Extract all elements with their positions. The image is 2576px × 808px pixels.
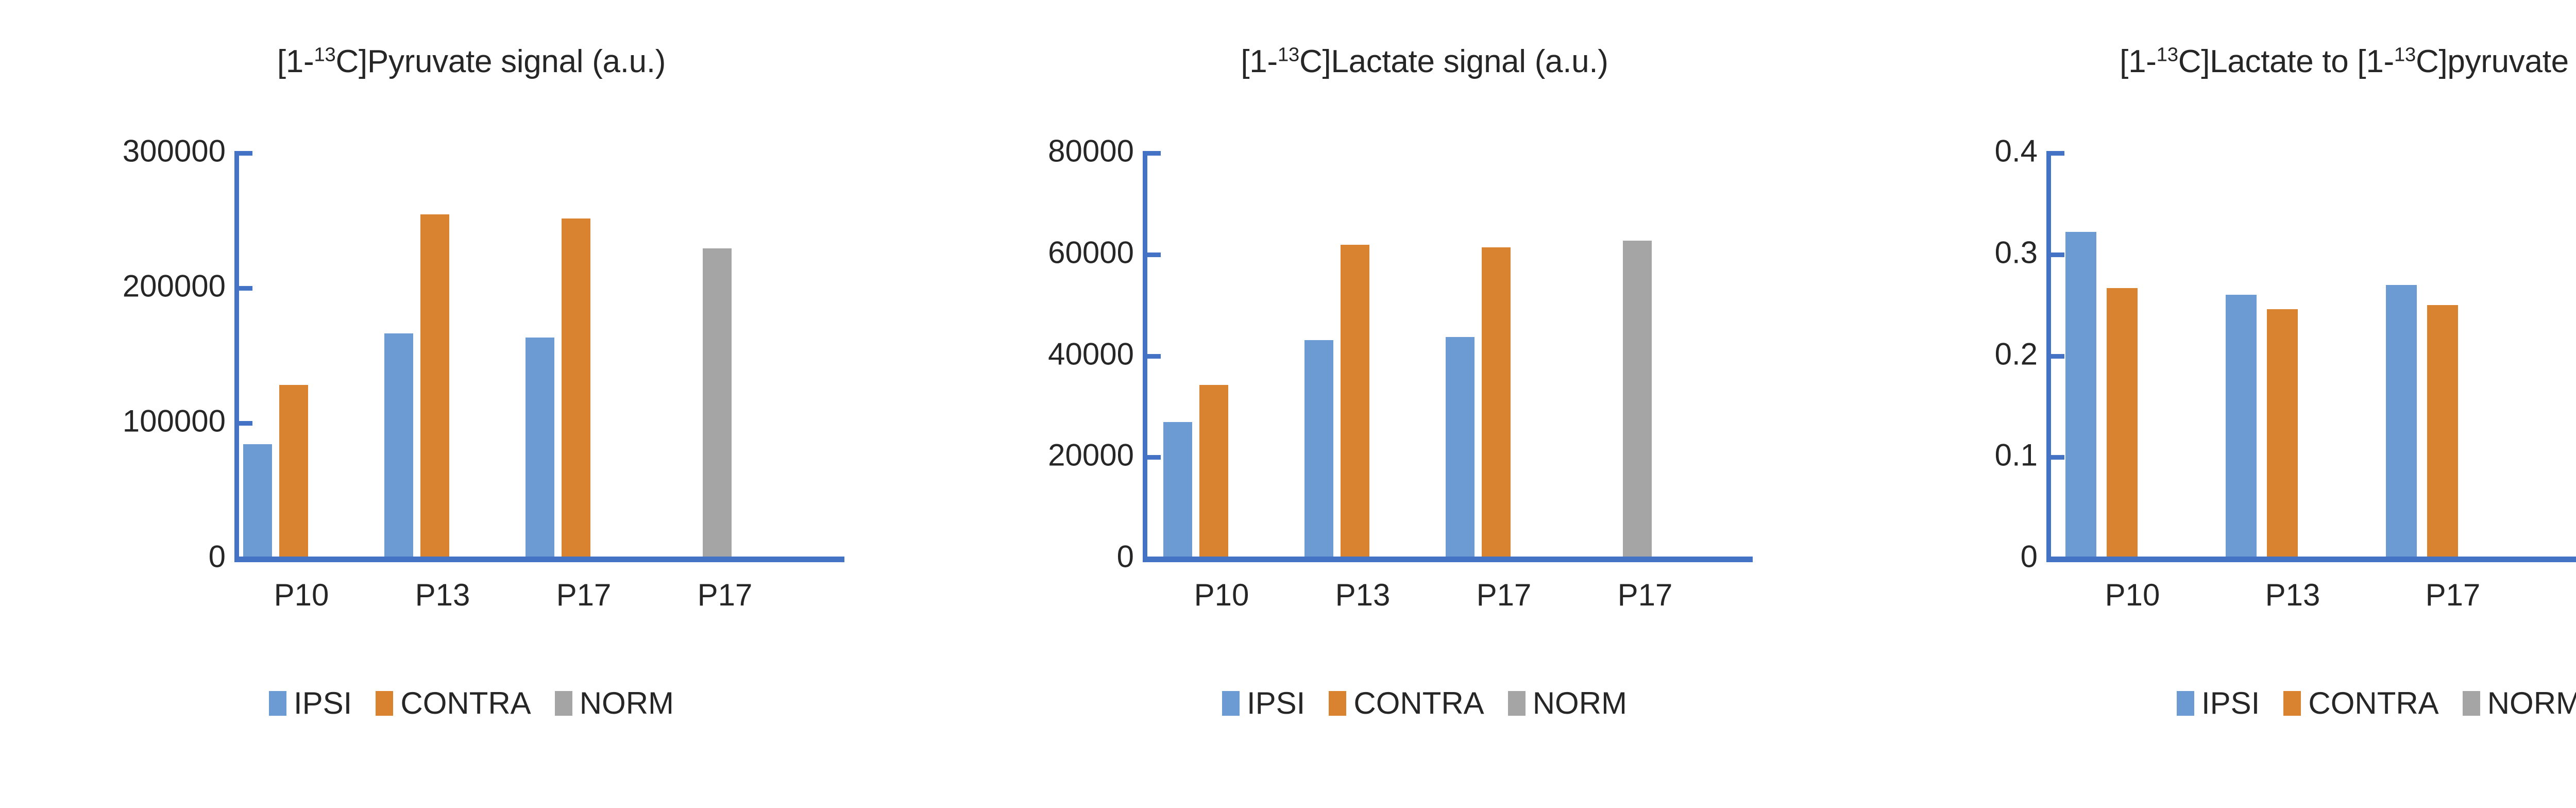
bar-contra-p17 [1482,247,1511,557]
legend-swatch-icon [1329,691,1346,716]
x-axis-line [234,557,844,562]
x-tick-label: P13 [2265,577,2320,613]
y-tick-label: 20000 [1048,437,1134,473]
y-tick: 60000 [1147,252,1161,257]
y-tick-label: 300000 [123,133,226,169]
bar-ipsi-p10 [2065,232,2096,557]
legend-label: CONTRA [2308,685,2438,721]
bar-contra-p10 [279,385,308,557]
bar-ipsi-p10 [243,444,272,557]
legend-item-norm: NORM [2463,685,2576,721]
plot-area: 80000 60000 40000 20000 0 [1143,151,1748,557]
bar-contra-p13 [1341,245,1369,557]
legend: IPSI CONTRA NORM [1906,685,2576,721]
legend-swatch-icon [2177,691,2194,716]
bar-ipsi-p17 [1446,337,1475,557]
legend-label: NORM [1533,685,1627,721]
y-tick: 300000 [239,151,252,156]
y-tick: 0.4 [2051,151,2064,156]
y-tick-label: 0 [209,539,226,575]
bar-ipsi-p13 [2226,295,2257,557]
legend-label: IPSI [294,685,352,721]
x-tick-label: P10 [2105,577,2160,613]
y-tick-label: 60000 [1048,235,1134,271]
legend-label: IPSI [1247,685,1305,721]
legend-item-ipsi: IPSI [1222,685,1305,721]
bar-ipsi-p13 [384,333,413,557]
chart-panel-lactate: [1-13C]Lactate signal (a.u.) 80000 60000… [943,0,1906,808]
legend: IPSI CONTRA NORM [943,685,1906,721]
y-tick-label: 0 [1117,539,1134,575]
y-tick-label: 0.4 [1995,133,2038,169]
y-tick-label: 80000 [1048,133,1134,169]
legend-item-contra: CONTRA [376,685,531,721]
bar-contra-p17 [2427,305,2458,557]
title-text-3: [1-13C]Lactate to [1-13C]pyruvate ratio [2120,44,2576,79]
x-tick-label: P17 [698,577,753,613]
y-tick-label: 100000 [123,403,226,439]
legend-label: NORM [2487,685,2576,721]
legend: IPSI CONTRA NORM [0,685,943,721]
legend-label: CONTRA [1353,685,1484,721]
chart-panel-ratio: [1-13C]Lactate to [1-13C]pyruvate ratio … [1906,0,2576,808]
x-axis-line [2046,557,2576,562]
legend-swatch-icon [1508,691,1526,716]
legend-item-contra: CONTRA [1329,685,1484,721]
title-text-1: [1-13C]Pyruvate signal (a.u.) [277,44,666,79]
x-tick-label: P10 [1194,577,1249,613]
x-tick-label: P10 [274,577,329,613]
x-tick-label: P13 [415,577,470,613]
plot-area: 300000 200000 100000 0 [234,151,840,557]
legend-label: NORM [580,685,674,721]
bar-contra-p13 [2267,309,2298,557]
x-tick-label: P17 [2426,577,2481,613]
y-tick-label: 0.2 [1995,336,2038,372]
bar-contra-p13 [420,214,449,557]
bar-norm-p17 [703,248,732,557]
y-tick-label: 200000 [123,268,226,304]
y-tick-label: 0 [2021,539,2038,575]
y-tick: 0.3 [2051,252,2064,257]
legend-item-ipsi: IPSI [2177,685,2260,721]
y-tick-label: 40000 [1048,336,1134,372]
y-tick: 80000 [1147,151,1161,156]
y-axis-line [234,151,239,561]
bar-ipsi-p17 [526,338,554,557]
legend-item-ipsi: IPSI [269,685,352,721]
legend-item-norm: NORM [555,685,674,721]
bar-contra-p17 [562,218,590,557]
bar-ipsi-p10 [1163,422,1192,557]
legend-swatch-icon [376,691,393,716]
legend-swatch-icon [2463,691,2480,716]
legend-item-norm: NORM [1508,685,1627,721]
bar-contra-p10 [1199,385,1228,557]
legend-swatch-icon [1222,691,1240,716]
y-tick: 40000 [1147,354,1161,359]
x-tick-label: P17 [1477,577,1532,613]
legend-swatch-icon [2283,691,2301,716]
x-tick-label: P17 [1618,577,1673,613]
y-tick: 20000 [1147,455,1161,460]
y-tick: 100000 [239,421,252,426]
chart-title: [1-13C]Lactate to [1-13C]pyruvate ratio [1906,5,2576,80]
bar-norm-p17 [1623,241,1652,557]
legend-swatch-icon [269,691,286,716]
legend-label: IPSI [2201,685,2260,721]
plot-area: 0.4 0.3 0.2 0.1 0 [2046,151,2576,557]
bar-ipsi-p13 [1304,340,1333,557]
y-tick-label: 0.1 [1995,437,2038,473]
chart-title: [1-13C]Lactate signal (a.u.) [943,5,1906,80]
title-text-2: [1-13C]Lactate signal (a.u.) [1241,44,1608,79]
legend-item-contra: CONTRA [2283,685,2438,721]
y-tick: 0.1 [2051,455,2064,460]
legend-swatch-icon [555,691,572,716]
y-axis-line [2046,151,2051,561]
chart-title: [1-13C]Pyruvate signal (a.u.) [0,5,943,80]
bar-ipsi-p17 [2386,285,2417,557]
chart-panel-pyruvate: [1-13C]Pyruvate signal (a.u.) 300000 200… [0,0,943,808]
x-tick-label: P17 [556,577,612,613]
y-tick: 200000 [239,286,252,291]
legend-label: CONTRA [400,685,531,721]
y-tick-label: 0.3 [1995,235,2038,271]
figure-canvas: [1-13C]Pyruvate signal (a.u.) 300000 200… [0,0,2576,808]
y-tick: 0.2 [2051,354,2064,359]
bar-contra-p10 [2107,288,2138,557]
x-axis-line [1143,557,1753,562]
x-tick-label: P13 [1335,577,1391,613]
y-axis-line [1143,151,1147,561]
